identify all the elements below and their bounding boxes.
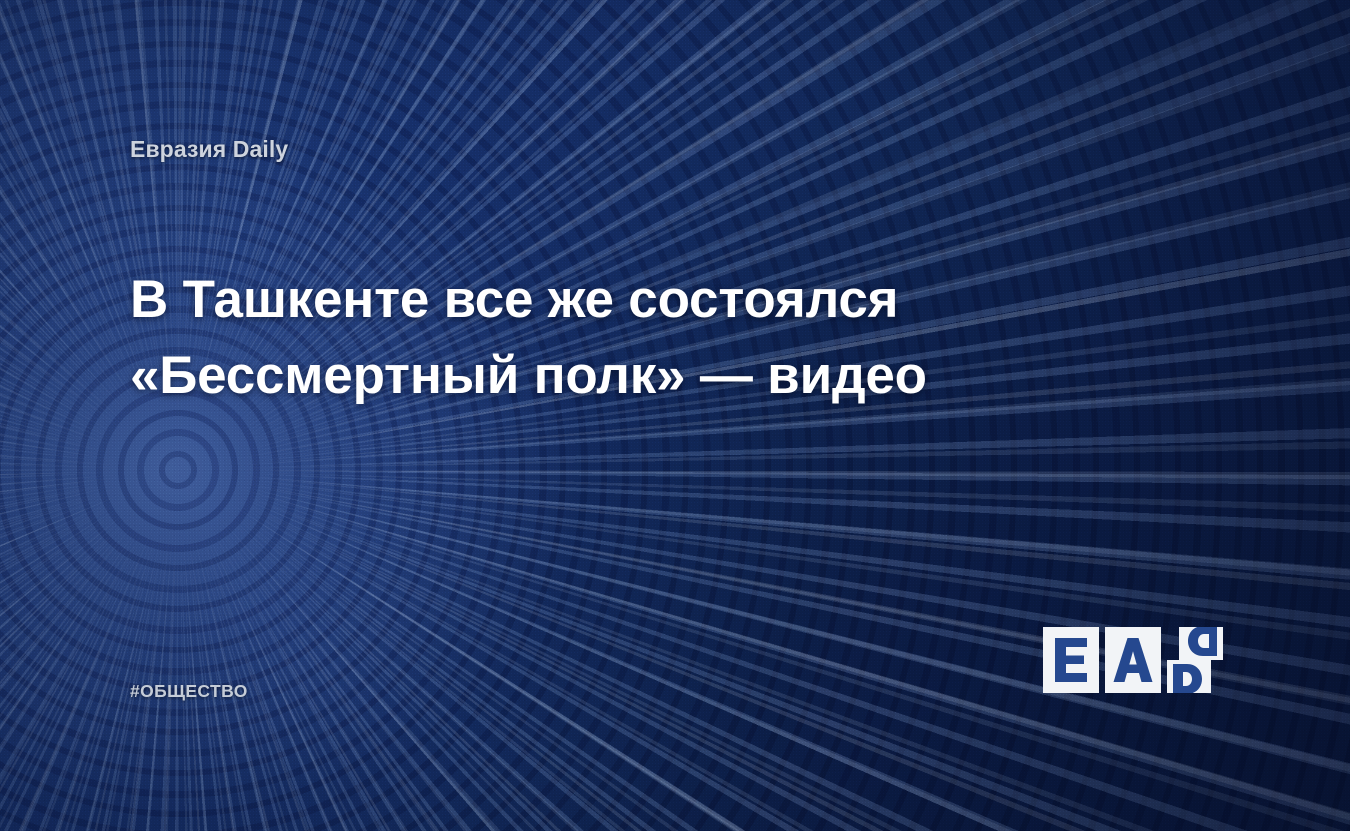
card-content: Евразия Daily В Ташкенте все же состоялс…	[0, 0, 1350, 831]
category-tag[interactable]: #ОБЩЕСТВО	[130, 681, 248, 702]
page-title: В Ташкенте все же состоялся «Бессмертный…	[130, 262, 1010, 414]
logo-tile-d	[1167, 627, 1223, 693]
logo-tile-a	[1105, 627, 1161, 693]
brand-name: Евразия Daily	[130, 136, 288, 163]
logo-tile-e	[1043, 627, 1099, 693]
letter-e-icon	[1051, 636, 1091, 684]
letter-a-icon	[1111, 636, 1155, 684]
letter-d-split-icon	[1167, 627, 1223, 693]
eadaily-logo[interactable]	[1043, 627, 1223, 693]
social-share-card: Евразия Daily В Ташкенте все же состоялс…	[0, 0, 1350, 831]
